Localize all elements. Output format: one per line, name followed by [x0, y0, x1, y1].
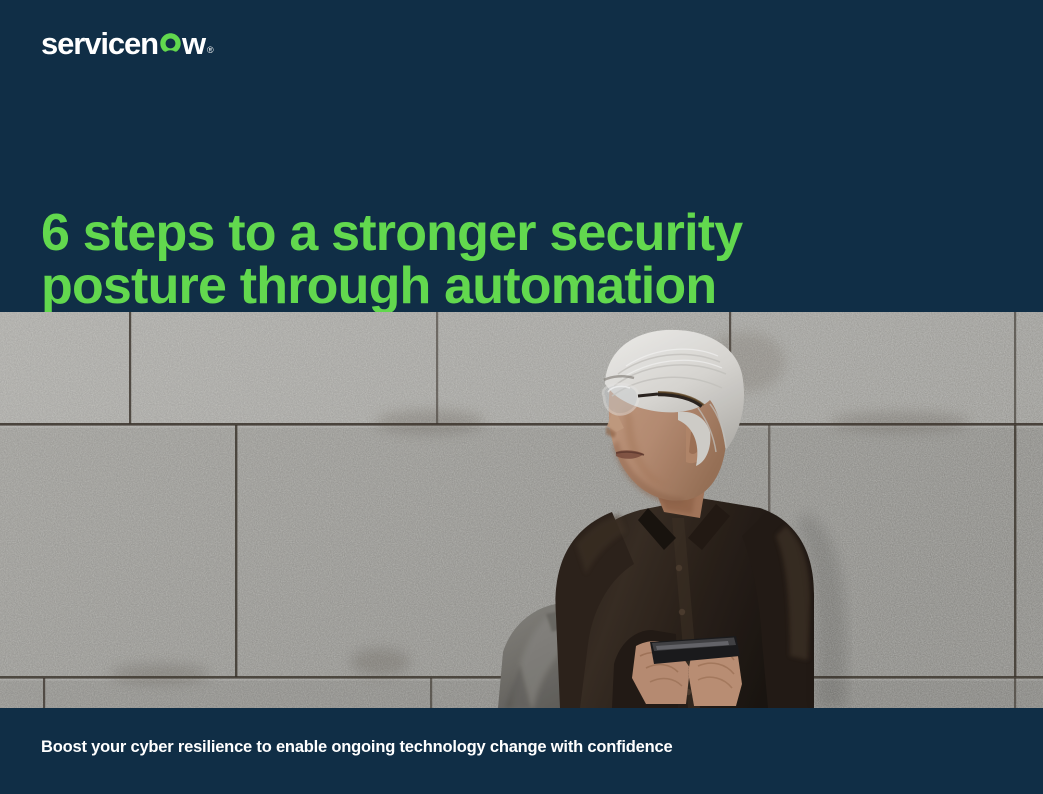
servicenow-logo: servicenw® [41, 36, 213, 66]
logo-wordmark: servicenw® [41, 29, 213, 66]
page-title-line-2: posture through automation [41, 260, 741, 313]
seated-person-with-phone-photo [0, 312, 1043, 708]
page-title: 6 steps to a stronger security posture t… [41, 207, 741, 313]
logo-trademark: ® [207, 35, 213, 65]
ebook-cover-page: servicenw® 6 steps to a stronger securit… [0, 0, 1043, 794]
servicenow-o-loop-icon [159, 32, 182, 55]
hero-photo [0, 312, 1043, 708]
logo-text-after: w [182, 29, 205, 59]
logo-text-before: servicen [41, 29, 158, 59]
page-title-line-1: 6 steps to a stronger security [41, 207, 741, 260]
page-subtitle: Boost your cyber resilience to enable on… [41, 738, 672, 757]
